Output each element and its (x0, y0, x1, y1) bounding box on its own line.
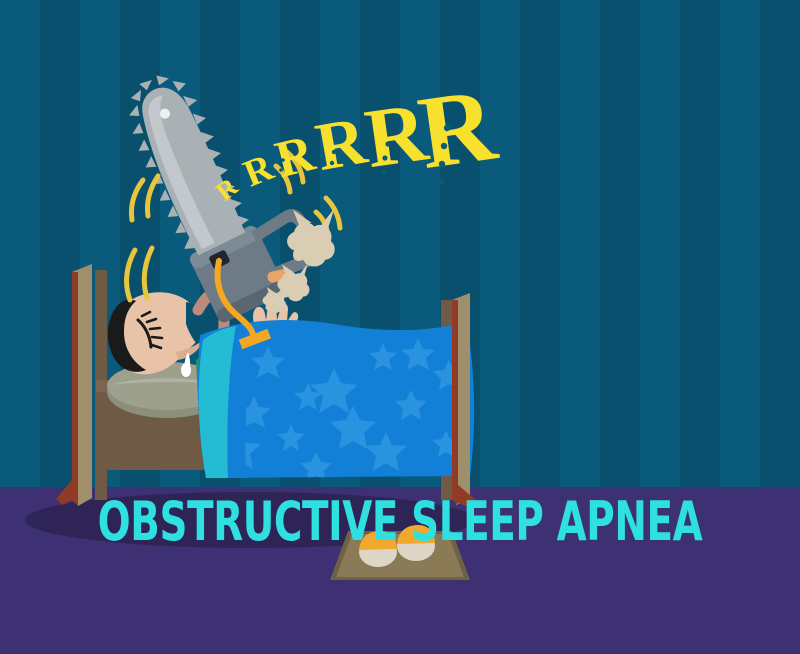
blanket (198, 320, 474, 482)
scene-canvas: R R R R R R (0, 0, 800, 654)
illustration-scene: R R R R R R (0, 0, 800, 654)
